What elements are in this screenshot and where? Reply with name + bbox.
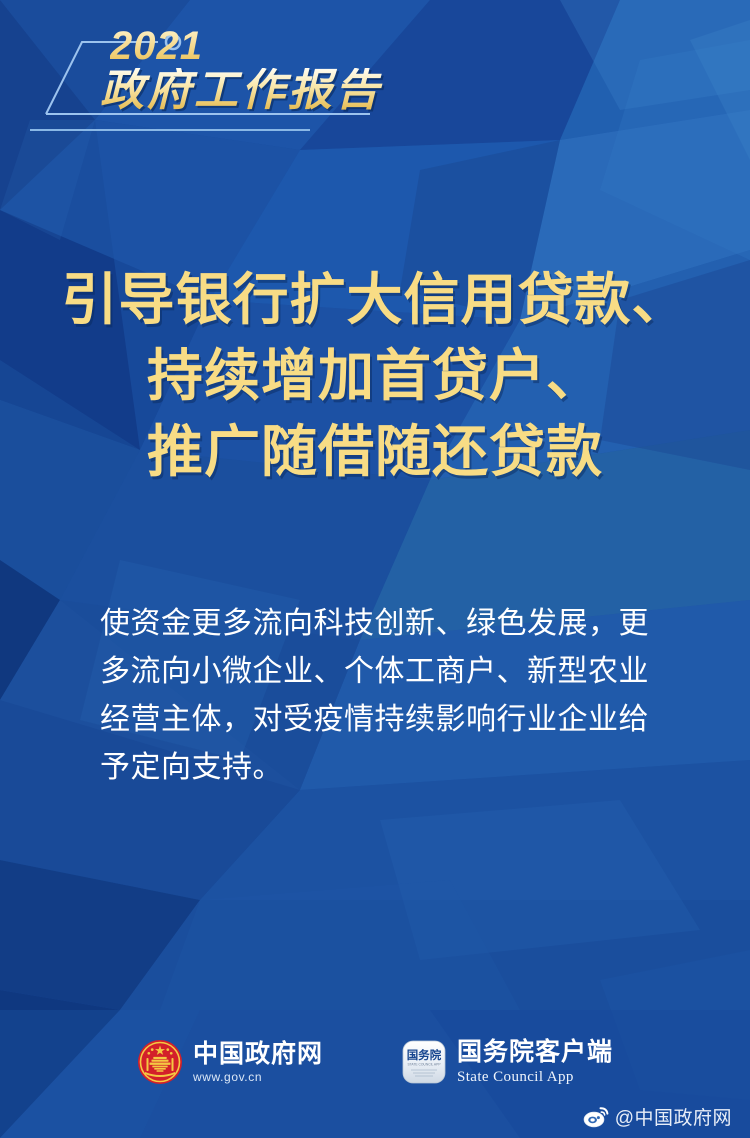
footer-logo-bar: 中国政府网 www.gov.cn 国务院 STATE COUNCIL APP [0,1038,750,1086]
body-paragraph: 使资金更多流向科技创新、绿色发展，更 多流向小微企业、个体工商户、新型农业 经营… [100,600,675,792]
headline-line: 推广随借随还贷款 [40,414,710,490]
poster-header: 2021 政府工作报告 [0,0,750,150]
headline-line: 引导银行扩大信用贷款、 [40,262,710,338]
gov-cn-logo-group: 中国政府网 www.gov.cn [137,1039,323,1085]
header-year: 2021 [110,26,520,66]
headline-line: 持续增加首贷户、 [40,338,710,414]
state-council-name: 国务院客户端 [457,1038,613,1067]
watermark-text: @中国政府网 [615,1103,732,1130]
state-council-app-logo-group: 国务院 STATE COUNCIL APP 国务院客户端 State Counc… [401,1038,613,1086]
national-emblem-icon [137,1039,183,1085]
poster-root: 2021 政府工作报告 引导银行扩大信用贷款、 持续增加首贷户、 推广随借随还贷… [0,0,750,1138]
gov-cn-logo-words: 中国政府网 www.gov.cn [193,1040,323,1085]
weibo-icon [583,1106,609,1128]
body-line: 予定向支持。 [100,744,675,792]
weibo-watermark: @中国政府网 [583,1103,732,1130]
body-line: 使资金更多流向科技创新、绿色发展，更 [100,600,675,648]
state-council-app-icon: 国务院 STATE COUNCIL APP [401,1039,447,1085]
svg-text:国务院: 国务院 [407,1048,442,1062]
header-text-block: 2021 政府工作报告 [100,26,520,114]
state-council-sub: State Council App [457,1068,613,1086]
low-poly-background [0,0,750,1138]
header-title: 政府工作报告 [100,68,520,114]
gov-cn-name: 中国政府网 [193,1040,323,1069]
state-council-logo-words: 国务院客户端 State Council App [457,1038,613,1086]
headline-block: 引导银行扩大信用贷款、 持续增加首贷户、 推广随借随还贷款 [40,262,710,490]
gov-cn-url: www.gov.cn [193,1070,323,1084]
svg-text:STATE COUNCIL APP: STATE COUNCIL APP [407,1063,441,1067]
body-line: 多流向小微企业、个体工商户、新型农业 [100,648,675,696]
body-line: 经营主体，对受疫情持续影响行业企业给 [100,696,675,744]
